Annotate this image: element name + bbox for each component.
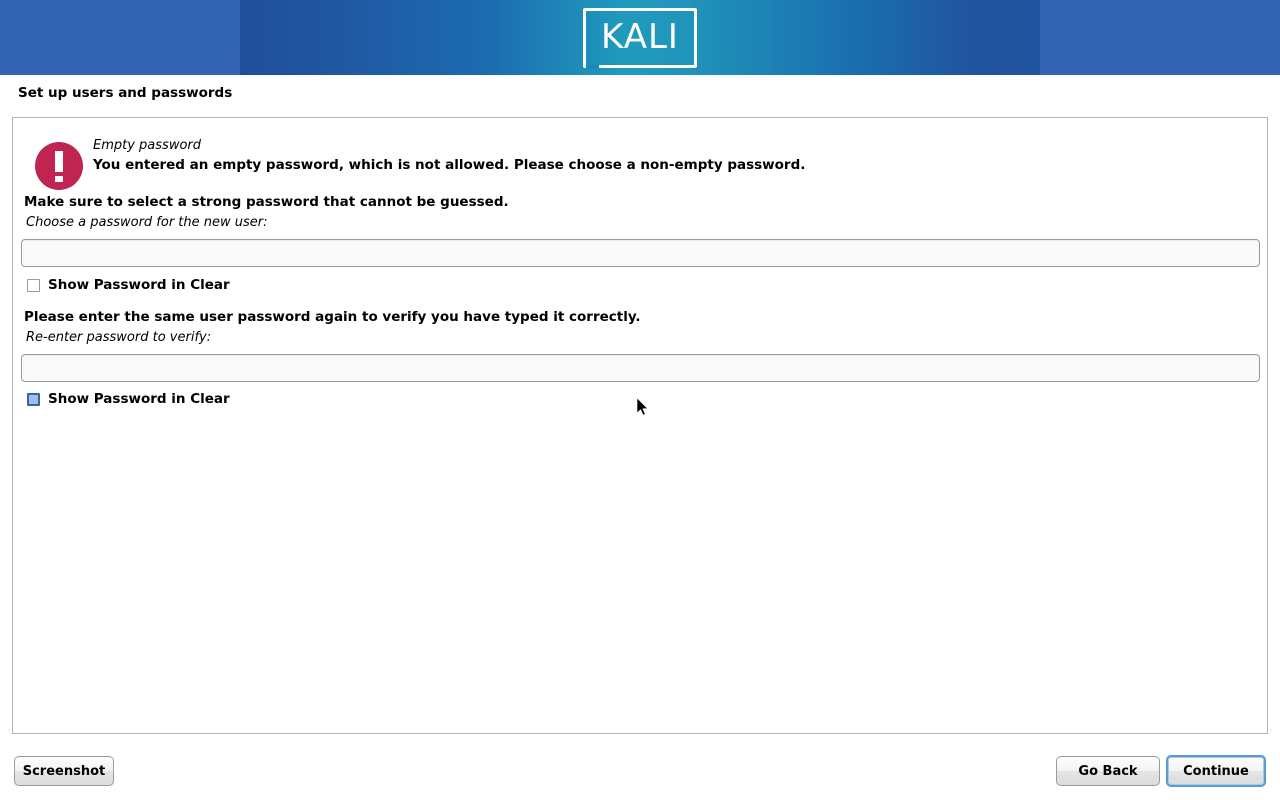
- show-password-checkbox-2[interactable]: [27, 393, 40, 406]
- page-title: Set up users and passwords: [18, 85, 232, 101]
- password-heading: Make sure to select a strong password th…: [24, 194, 509, 210]
- verify-label: Re-enter password to verify:: [26, 330, 211, 345]
- show-password-checkbox-row-1[interactable]: Show Password in Clear: [27, 277, 230, 293]
- error-exclamation-icon: [35, 142, 83, 190]
- show-password-label-1: Show Password in Clear: [48, 277, 230, 293]
- kali-banner: KALI: [0, 0, 1280, 75]
- verify-heading: Please enter the same user password agai…: [24, 309, 641, 325]
- go-back-button[interactable]: Go Back: [1056, 756, 1160, 786]
- show-password-checkbox-row-2[interactable]: Show Password in Clear: [27, 391, 230, 407]
- show-password-label-2: Show Password in Clear: [48, 391, 230, 407]
- verify-password-input[interactable]: [21, 354, 1260, 382]
- error-title: Empty password: [93, 138, 201, 153]
- exclamation-dot: [55, 176, 63, 182]
- kali-logo-text: KALI: [583, 8, 697, 68]
- installer-main-panel: Empty password You entered an empty pass…: [12, 117, 1268, 734]
- show-password-checkbox-1[interactable]: [27, 279, 40, 292]
- error-message: You entered an empty password, which is …: [93, 157, 805, 173]
- exclamation-bar: [55, 151, 63, 172]
- password-input[interactable]: [21, 239, 1260, 267]
- kali-logo: KALI: [583, 8, 697, 68]
- error-banner: Empty password You entered an empty pass…: [24, 128, 1254, 192]
- screenshot-button[interactable]: Screenshot: [14, 756, 114, 786]
- continue-button[interactable]: Continue: [1166, 755, 1266, 787]
- password-label: Choose a password for the new user:: [26, 215, 268, 230]
